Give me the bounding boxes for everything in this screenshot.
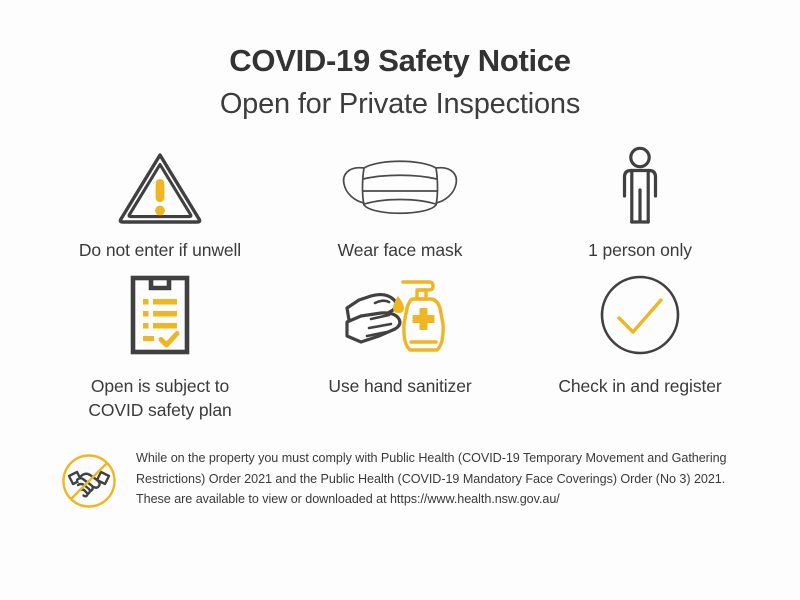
safety-item-one-person-only: 1 person only xyxy=(520,145,760,263)
no-handshake-icon xyxy=(58,450,120,512)
face-mask-icon xyxy=(339,145,461,229)
covid-safety-notice-poster: COVID-19 Safety Notice Open for Private … xyxy=(0,0,800,600)
safety-item-label: Check in and register xyxy=(558,375,721,399)
safety-item-covid-safety-plan: Open is subject to COVID safety plan xyxy=(40,269,280,422)
warning-triangle-icon xyxy=(116,145,204,229)
footer-notice-text: While on the property you must comply wi… xyxy=(136,448,744,509)
page-subtitle: Open for Private Inspections xyxy=(0,88,800,121)
safety-item-label: Do not enter if unwell xyxy=(79,239,241,263)
circle-check-icon xyxy=(597,269,683,361)
page-title: COVID-19 Safety Notice xyxy=(0,44,800,78)
single-person-icon xyxy=(612,145,668,229)
safety-item-wear-face-mask: Wear face mask xyxy=(280,145,520,263)
footer-notice: While on the property you must comply wi… xyxy=(0,448,800,512)
safety-item-label: Wear face mask xyxy=(338,239,463,263)
clipboard-checklist-icon xyxy=(124,269,196,361)
safety-item-check-in-and-register: Check in and register xyxy=(520,269,760,422)
safety-measures-grid: Do not enter if unwell xyxy=(0,145,800,422)
poster-heading: COVID-19 Safety Notice Open for Private … xyxy=(0,0,800,121)
safety-item-label: Use hand sanitizer xyxy=(328,375,471,399)
safety-item-label: 1 person only xyxy=(588,239,692,263)
safety-item-use-hand-sanitizer: Use hand sanitizer xyxy=(280,269,520,422)
hand-sanitizer-icon xyxy=(341,269,459,361)
safety-item-do-not-enter-if-unwell: Do not enter if unwell xyxy=(40,145,280,263)
safety-item-label: Open is subject to COVID safety plan xyxy=(88,375,231,422)
